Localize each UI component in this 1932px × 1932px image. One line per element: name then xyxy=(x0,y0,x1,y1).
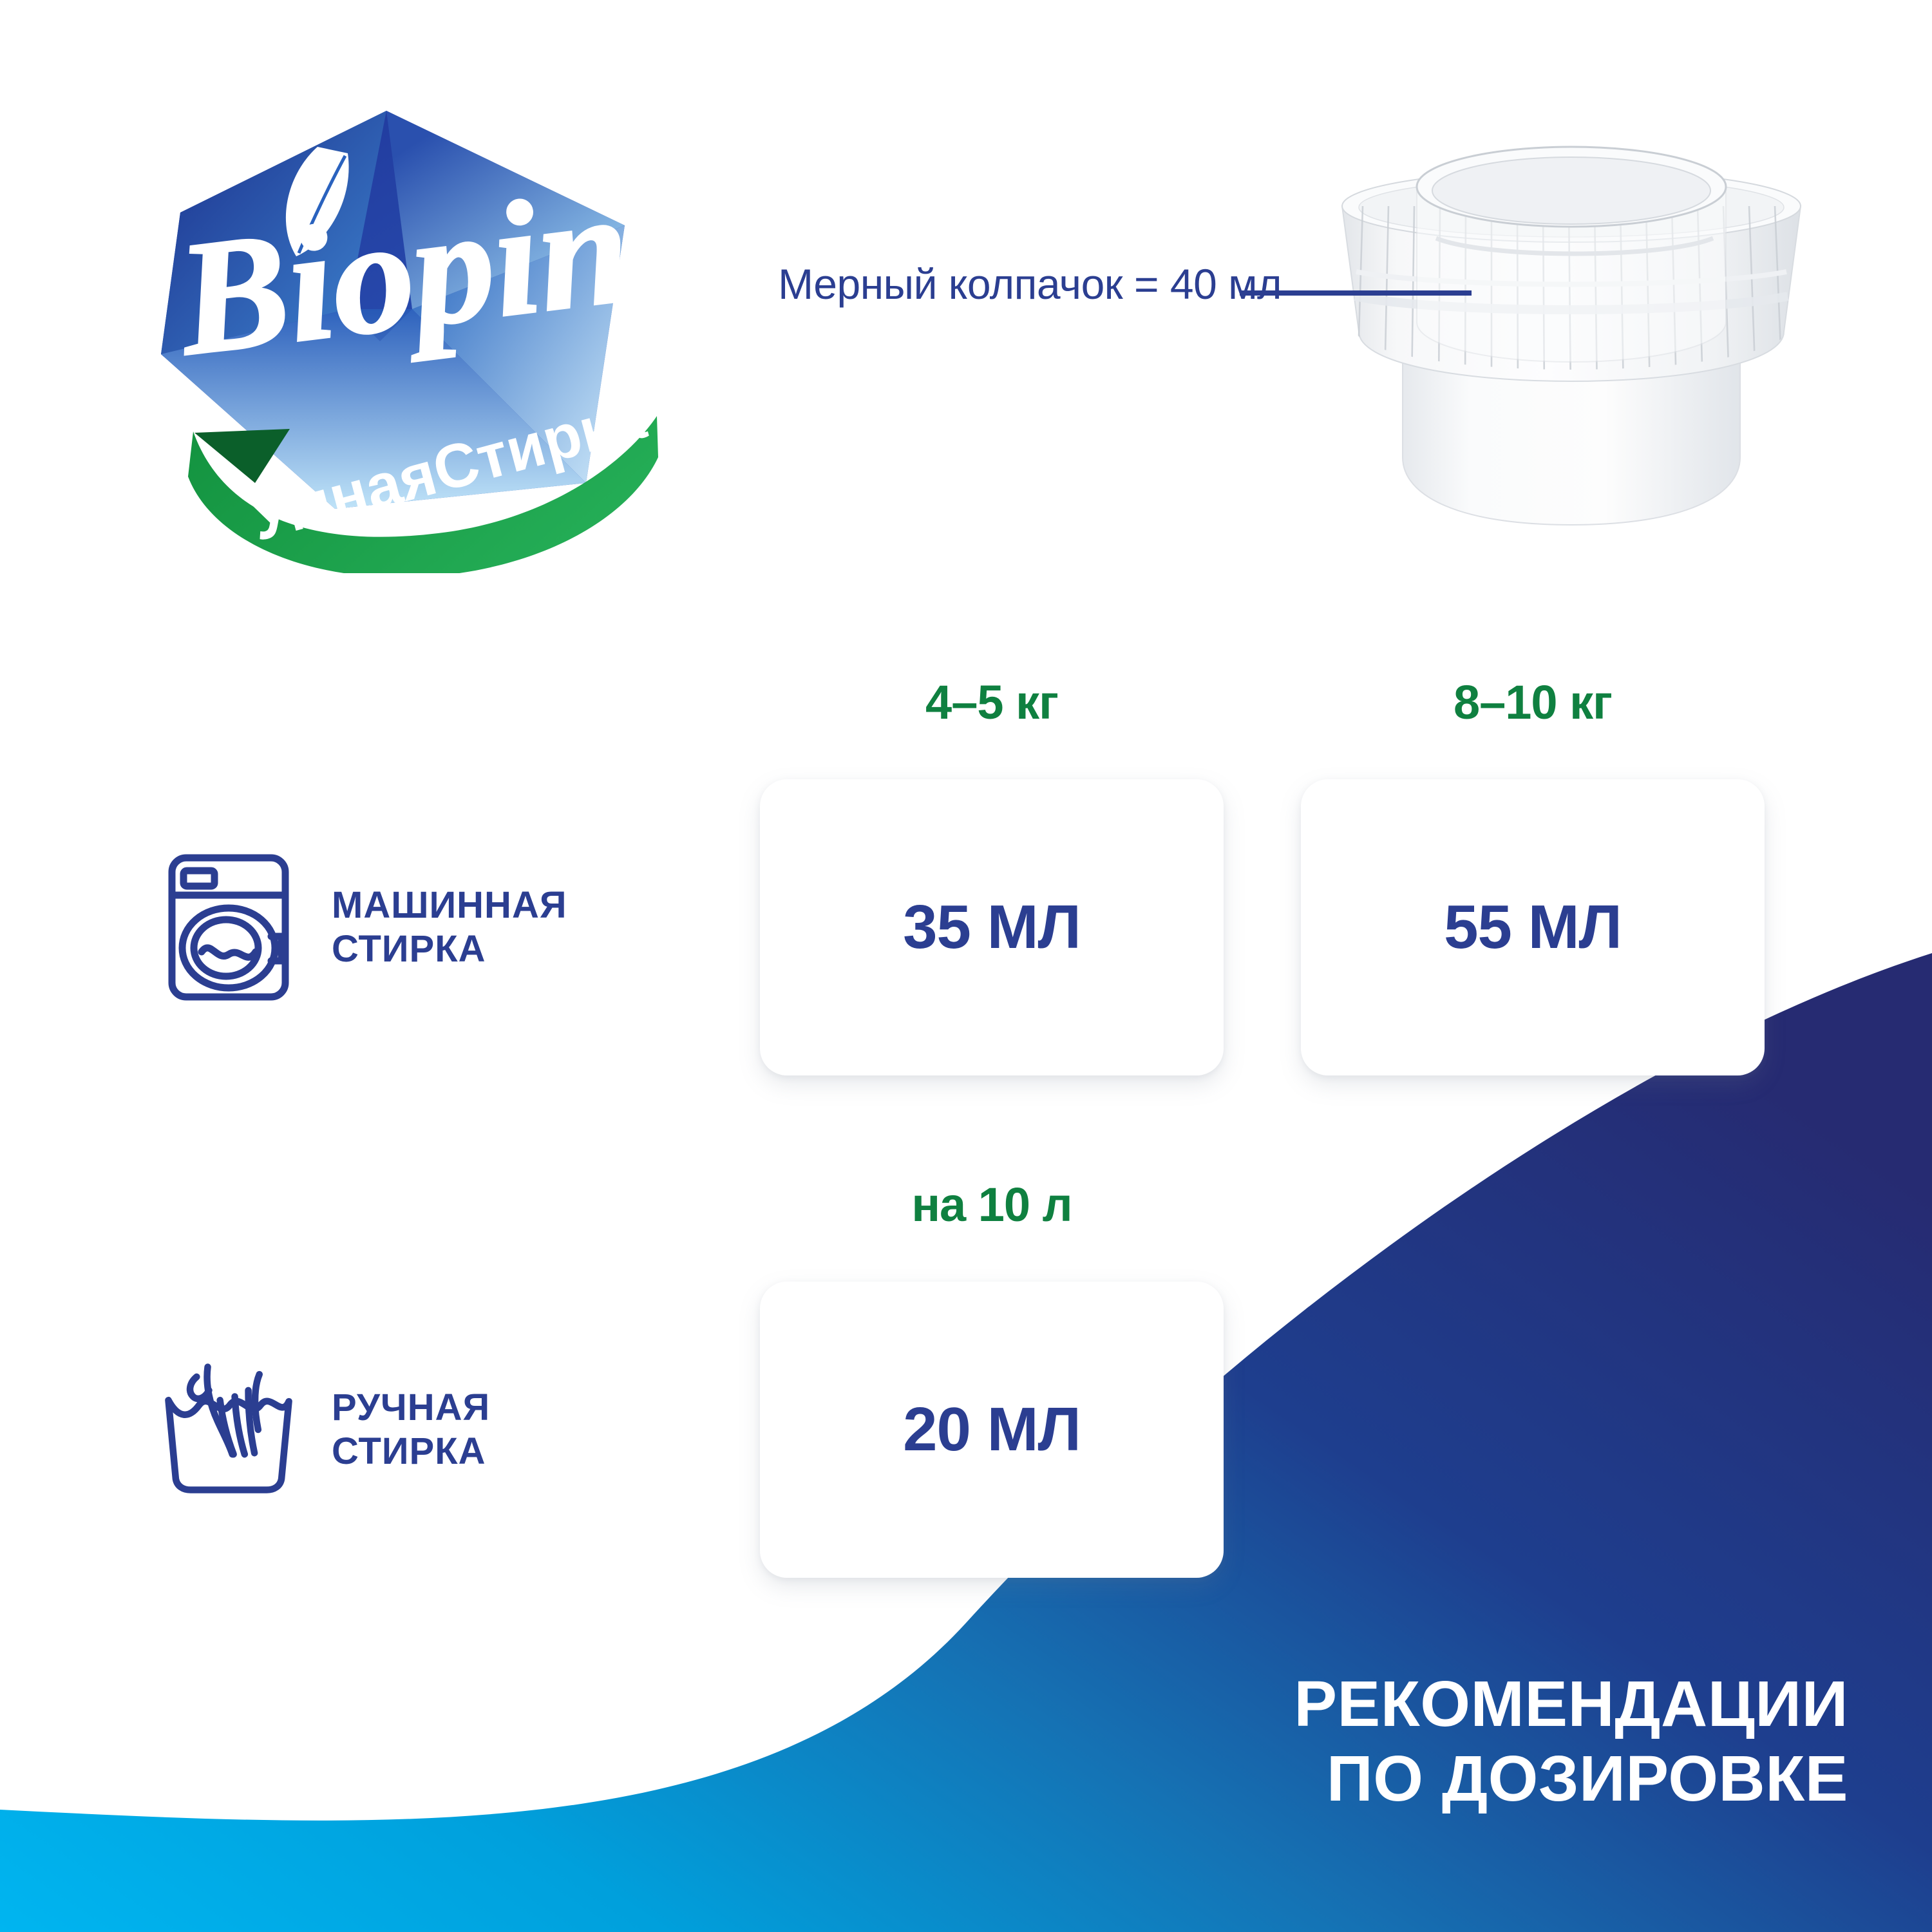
dose-cell-machine-small: 4–5 кг 35 МЛ xyxy=(760,779,1224,1075)
dosage-row-machine: МАШИННАЯ СТИРКА 4–5 кг 35 МЛ 8–10 кг 55 … xyxy=(0,779,1765,1075)
dose-cell-machine-large: 8–10 кг 55 МЛ xyxy=(1301,779,1765,1075)
dose-value-machine-small: 35 МЛ xyxy=(903,892,1081,963)
dose-card-hand[interactable]: 20 МЛ xyxy=(760,1282,1224,1578)
mode-machine-wash-label: МАШИННАЯ СТИРКА xyxy=(332,884,567,972)
callout-leader-line xyxy=(1240,290,1472,296)
mode-machine-wash: МАШИННАЯ СТИРКА xyxy=(0,847,760,1008)
mode-hand-wash: РУЧНАЯ СТИРКА xyxy=(0,1359,760,1501)
callout-text: Мерный колпачок = 40 мл xyxy=(760,258,1282,311)
washing-machine-icon xyxy=(161,847,296,1008)
dose-value-machine-large: 55 МЛ xyxy=(1444,892,1622,963)
dose-header-machine-large: 8–10 кг xyxy=(1301,675,1765,730)
dose-card-machine-large[interactable]: 55 МЛ xyxy=(1301,779,1765,1075)
dose-header-machine-small: 4–5 кг xyxy=(760,675,1224,730)
hand-wash-icon xyxy=(161,1359,296,1501)
mode-hand-wash-label: РУЧНАЯ СТИРКА xyxy=(332,1386,490,1474)
dose-cell-hand: на 10 л 20 МЛ xyxy=(760,1282,1224,1578)
measuring-cap-icon xyxy=(1327,109,1816,560)
dosage-row-hand: РУЧНАЯ СТИРКА на 10 л 20 МЛ xyxy=(0,1282,1224,1578)
brand-logo: Biopin УмнаяСтирка xyxy=(135,97,670,573)
dose-header-hand: на 10 л xyxy=(760,1177,1224,1232)
footer-title: РЕКОМЕНДАЦИИ ПО ДОЗИРОВКЕ xyxy=(1075,1667,1848,1816)
dose-card-machine-small[interactable]: 35 МЛ xyxy=(760,779,1224,1075)
dose-value-hand: 20 МЛ xyxy=(903,1394,1081,1465)
